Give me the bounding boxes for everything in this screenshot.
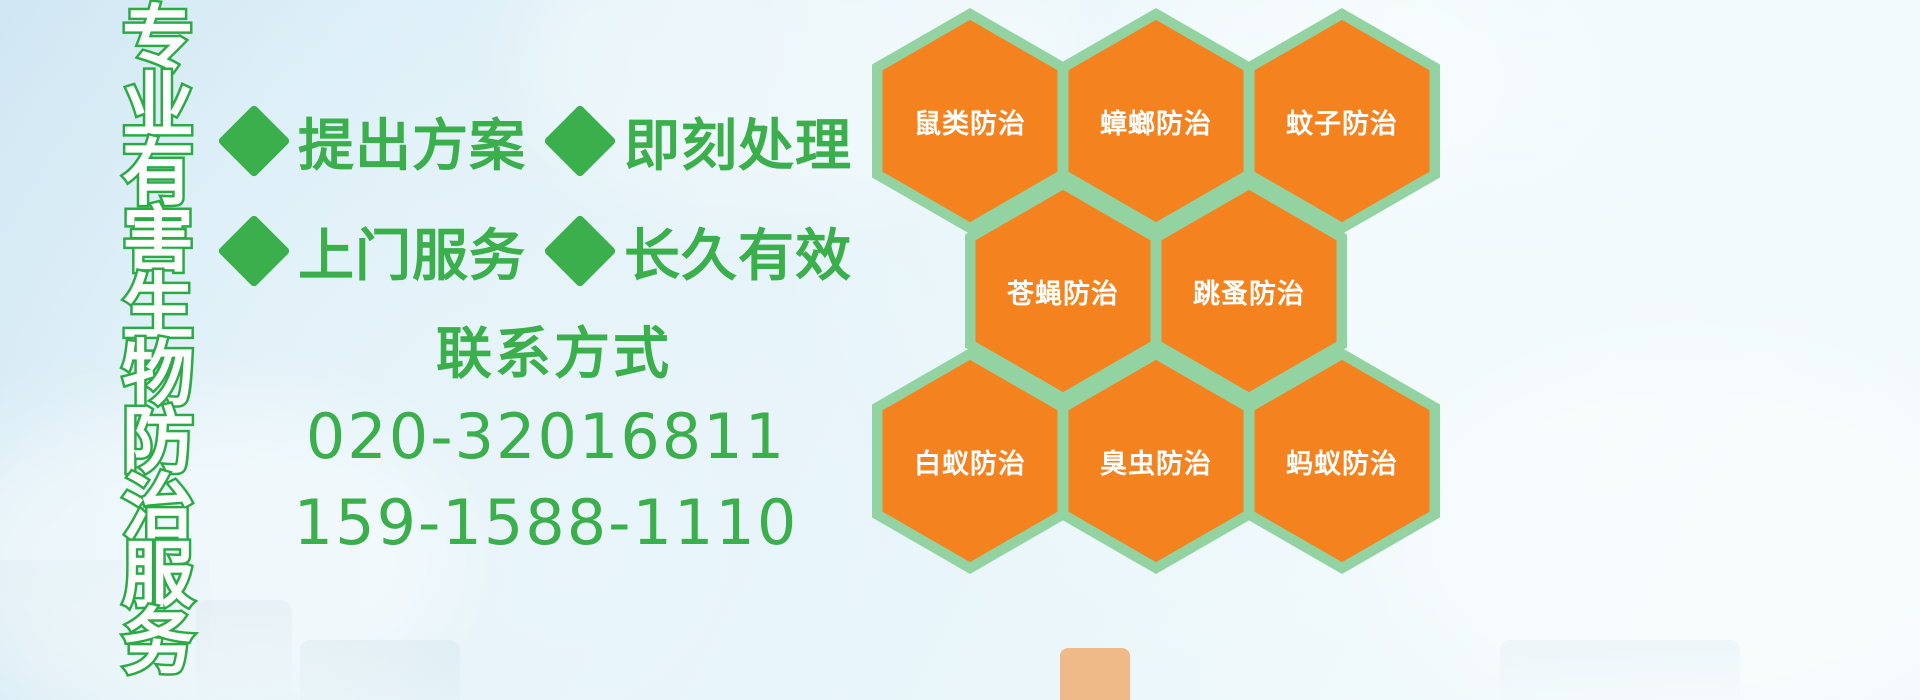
feature-item: 长久有效 [554,211,852,292]
feature-row: 上门服务 长久有效 [228,196,868,306]
feature-label: 提出方案 [298,101,526,182]
feature-list: 提出方案 即刻处理 上门服务 长久有效 [228,86,868,306]
vertical-title-char: 生 [122,274,194,341]
background-glow-right [1380,330,1920,700]
vertical-title-char: 有 [122,140,194,207]
vertical-title-char: 物 [122,341,194,408]
background-shape-bottom-right [1500,640,1740,700]
vertical-title-char: 服 [122,542,194,609]
feature-label: 即刻处理 [624,101,852,182]
vertical-title-char: 业 [122,73,194,140]
diamond-bullet-icon [217,104,291,178]
service-hex-bedbug[interactable]: 臭虫防治 [1058,348,1254,574]
contact-block: 联系方式 020-32016811 159-1588-1110 [236,316,856,566]
vertical-title-char: 治 [122,475,194,542]
background-shape-column [196,600,292,700]
service-label: 蚂蚁防治 [1244,348,1440,574]
contact-title: 联系方式 [236,316,856,394]
pest-control-banner: 专 业 有 害 生 物 防 治 服 务 提出方案 即刻处理 上门服务 [0,0,1920,700]
feature-item: 上门服务 [228,211,526,292]
vertical-title-char: 害 [122,207,194,274]
phone-landline[interactable]: 020-32016811 [236,394,856,480]
service-label: 白蚁防治 [872,348,1068,574]
service-honeycomb: 鼠类防治 蟑螂防治 蚊子防治 苍蝇防治 跳蚤防治 白蚁防治 [858,0,1458,560]
diamond-bullet-icon [543,104,617,178]
background-shape-orange [1060,648,1130,700]
diamond-bullet-icon [217,214,291,288]
vertical-title: 专 业 有 害 生 物 防 治 服 务 [108,6,208,676]
background-shape-block [300,640,460,700]
service-hex-ant[interactable]: 蚂蚁防治 [1244,348,1440,574]
vertical-title-char: 专 [122,6,194,73]
feature-label: 长久有效 [624,211,852,292]
service-label: 臭虫防治 [1058,348,1254,574]
vertical-title-char: 务 [122,609,194,676]
phone-mobile[interactable]: 159-1588-1110 [236,480,856,566]
feature-item: 提出方案 [228,101,526,182]
vertical-title-char: 防 [122,408,194,475]
feature-row: 提出方案 即刻处理 [228,86,868,196]
feature-item: 即刻处理 [554,101,852,182]
service-hex-termite[interactable]: 白蚁防治 [872,348,1068,574]
feature-label: 上门服务 [298,211,526,292]
diamond-bullet-icon [543,214,617,288]
